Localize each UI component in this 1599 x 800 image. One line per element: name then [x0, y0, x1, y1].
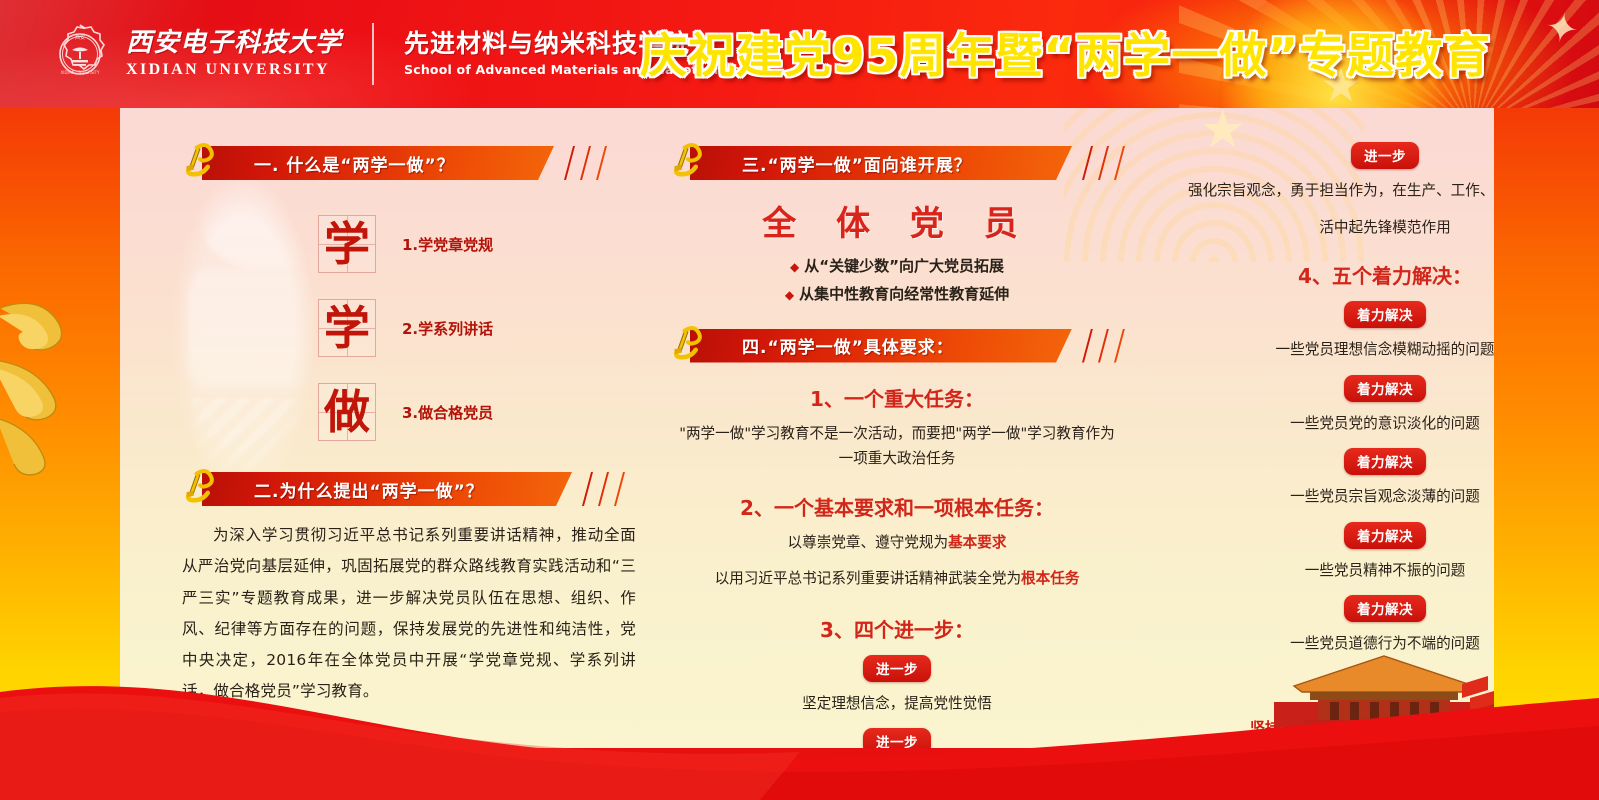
section-four-title: 四.“两学一做”具体要求： [690, 333, 954, 358]
university-seal-icon: 西安 XIDIAN UNIVERSITY [48, 22, 112, 86]
poster-header: ★ ✦ 西安 XIDIAN UNIVE [0, 0, 1599, 108]
university-name-en: XIDIAN UNIVERSITY [126, 62, 342, 78]
study-item-row: 做 3.做合格党员 [318, 370, 640, 454]
party-emblem-icon [178, 462, 224, 508]
solve-pill: 着力解决 [1344, 448, 1426, 475]
pill-row: 着力解决 [1150, 522, 1494, 549]
pill-row: 着力解决 [1150, 448, 1494, 475]
bullet-item: 从集中性教育向经常性教育延伸 [666, 281, 1128, 309]
solve-pill: 着力解决 [1344, 301, 1426, 328]
item2-line2-highlight: 根本任务 [1021, 570, 1079, 587]
section-three-bar: 三.“两学一做”面向谁开展？ [690, 146, 1072, 180]
svg-text:XIDIAN UNIVERSITY: XIDIAN UNIVERSITY [61, 70, 100, 75]
column-middle: 三.“两学一做”面向谁开展？ 全 体 党 员 从“关键少数”向广大党员拓展 从集… [666, 108, 1128, 748]
solve-pill: 着力解决 [1344, 595, 1426, 622]
section-one-bar: 一. 什么是“两学一做”？ [202, 146, 554, 180]
item3-entry-4-line2: 活中起先锋模范作用 [1150, 215, 1494, 241]
item3-entry-4-line1: 强化宗旨观念，勇于担当作为，在生产、工作、学习和社会生 [1150, 178, 1494, 204]
item3-heading: 3、四个进一步： [666, 614, 1128, 643]
item4-heading: 4、五个着力解决： [1150, 260, 1494, 289]
frame-left-gradient [0, 0, 120, 800]
step-pill: 进一步 [1351, 142, 1419, 169]
study-item-label: 2.学系列讲话 [402, 318, 493, 339]
item1-line1: "两学一做"学习教育不是一次活动，而要把"两学一做"学习教育作为 [666, 421, 1128, 447]
pill-row: 着力解决 [1150, 375, 1494, 402]
section-two-slashes [582, 472, 625, 506]
column-left: 一. 什么是“两学一做”？ 学 1.学党章党规 学 2.学系列讲话 做 3.做合… [178, 108, 640, 708]
item1-line2: 一项重大政治任务 [666, 446, 1128, 472]
party-emblem-icon [666, 136, 712, 182]
section-three-slashes [1082, 146, 1125, 180]
tiananmen-caption: 中华人民共和国万岁 [1350, 728, 1422, 738]
logo-divider [372, 23, 374, 85]
party-emblem-icon [666, 319, 712, 365]
party-emblem-icon [178, 136, 224, 182]
section-three-title: 三.“两学一做”面向谁开展？ [690, 151, 972, 176]
step-pill: 进一步 [863, 728, 931, 748]
frame-right-gradient [1494, 0, 1599, 800]
item2-line1-text: 以尊崇党章、遵守党规为 [788, 534, 949, 551]
item2-line2-text: 以用习近平总书记系列重要讲话精神武装全党为 [715, 570, 1021, 587]
section-one-title: 一. 什么是“两学一做”？ [202, 151, 455, 176]
item4-entry-3: 一些党员宗旨观念淡薄的问题 [1150, 484, 1494, 510]
solve-pill: 着力解决 [1344, 522, 1426, 549]
pill-row: 着力解决 [1150, 301, 1494, 328]
char-box-xue1: 学 [318, 215, 376, 273]
study-item-row: 学 2.学系列讲话 [318, 286, 640, 370]
item4-entry-2: 一些党员党的意识淡化的问题 [1150, 411, 1494, 437]
step-pill: 进一步 [863, 655, 931, 682]
char-box-xue2: 学 [318, 299, 376, 357]
section-header-four: 四.“两学一做”具体要求： [666, 329, 1128, 363]
item2-line1: 以尊崇党章、遵守党规为基本要求 [666, 530, 1128, 556]
bullet-item: 从“关键少数”向广大党员拓展 [666, 253, 1128, 281]
pill-row: 进一步 [666, 655, 1128, 682]
char-box-zuo: 做 [318, 383, 376, 441]
section-two-bar: 二.为什么提出“两学一做”？ [202, 472, 572, 506]
university-name-cn: 西安电子科技大学 [126, 30, 342, 56]
content-board: ★ 一. [120, 108, 1494, 748]
section-three-bullets: 从“关键少数”向广大党员拓展 从集中性教育向经常性教育延伸 [666, 253, 1128, 309]
item2-heading: 2、一个基本要求和一项根本任务： [666, 492, 1128, 521]
poster-root: ★ ✦ 西安 XIDIAN UNIVE [0, 0, 1599, 800]
two-study-one-do-list: 学 1.学党章党规 学 2.学系列讲话 做 3.做合格党员 [178, 202, 640, 454]
section-four-slashes [1082, 329, 1125, 363]
all-party-members-headline: 全 体 党 员 [666, 196, 1128, 245]
section-header-one: 一. 什么是“两学一做”？ [178, 146, 640, 180]
banner-title: 庆祝建党95周年暨“两学一做”专题教育 [640, 26, 1570, 88]
university-name-block: 西安电子科技大学 XIDIAN UNIVERSITY [126, 30, 342, 78]
pill-row: 进一步 [666, 728, 1128, 748]
section-two-paragraph: 为深入学习贯彻习近平总书记系列重要讲话精神，推动全面从严治党向基层延伸，巩固拓展… [178, 520, 640, 708]
item4-entry-4: 一些党员精神不振的问题 [1150, 558, 1494, 584]
section-header-three: 三.“两学一做”面向谁开展？ [666, 146, 1128, 180]
item2-line2: 以用习近平总书记系列重要讲话精神武装全党为根本任务 [666, 566, 1128, 592]
study-item-label: 1.学党章党规 [402, 234, 493, 255]
tiananmen-gate-icon: 中华人民共和国万岁 [1274, 628, 1494, 748]
item4-entry-1: 一些党员理想信念模糊动摇的问题 [1150, 337, 1494, 363]
section-one-slashes [564, 146, 607, 180]
pill-row: 着力解决 [1150, 595, 1494, 622]
study-item-row: 学 1.学党章党规 [318, 202, 640, 286]
item2-line1-highlight: 基本要求 [948, 534, 1006, 551]
item1-heading: 1、一个重大任务： [666, 383, 1128, 412]
section-four-bar: 四.“两学一做”具体要求： [690, 329, 1072, 363]
study-item-label: 3.做合格党员 [402, 402, 493, 423]
item3-entry-1: 坚定理想信念，提高党性觉悟 [666, 691, 1128, 717]
svg-text:西安: 西安 [75, 34, 85, 41]
section-two-title: 二.为什么提出“两学一做”？ [202, 477, 484, 502]
solve-pill: 着力解决 [1344, 375, 1426, 402]
section-header-two: 二.为什么提出“两学一做”？ [178, 472, 640, 506]
pill-row: 进一步 [1150, 142, 1494, 169]
